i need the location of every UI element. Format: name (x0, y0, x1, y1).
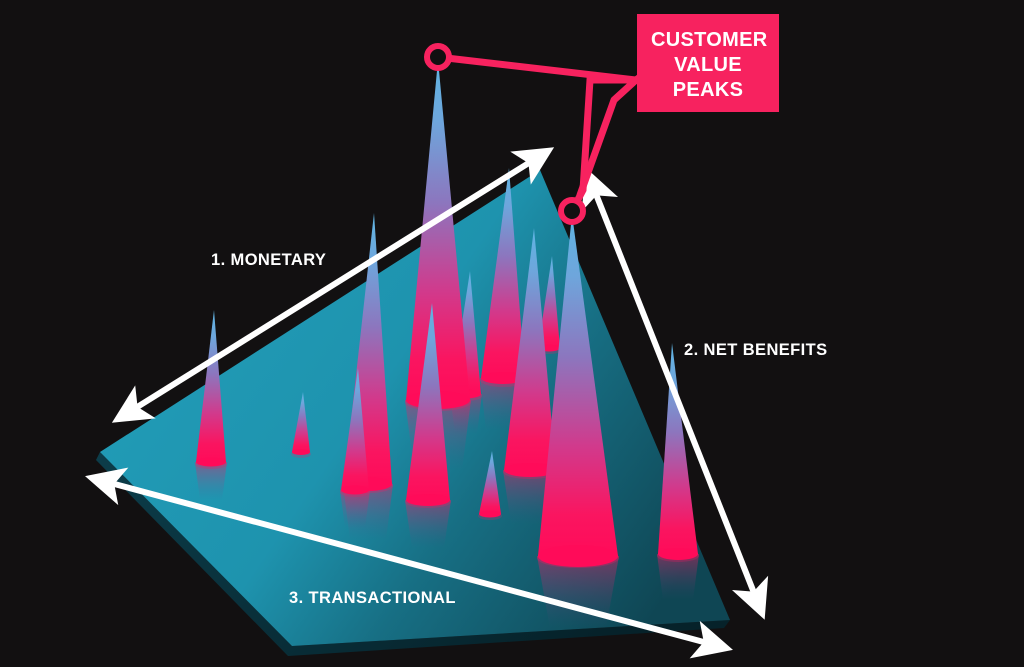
scene-svg (0, 0, 1024, 667)
axis-label-net-benefits: 2. NET BENEFITS (684, 341, 828, 360)
callout-line-1: CUSTOMER (651, 28, 765, 53)
peak-marker-1[interactable] (427, 46, 449, 68)
diagram-canvas: 1. MONETARY 2. NET BENEFITS 3. TRANSACTI… (0, 0, 1024, 667)
callout-line-2: VALUE (651, 53, 765, 78)
peak-marker-2[interactable] (561, 200, 583, 222)
callout-connector (438, 57, 660, 211)
callout-line-3: PEAKS (651, 78, 765, 103)
customer-value-peaks-callout[interactable]: CUSTOMER VALUE PEAKS (637, 14, 779, 112)
axis-label-monetary: 1. MONETARY (211, 251, 326, 270)
axis-label-transactional: 3. TRANSACTIONAL (289, 589, 456, 608)
cone-7 (658, 343, 698, 560)
